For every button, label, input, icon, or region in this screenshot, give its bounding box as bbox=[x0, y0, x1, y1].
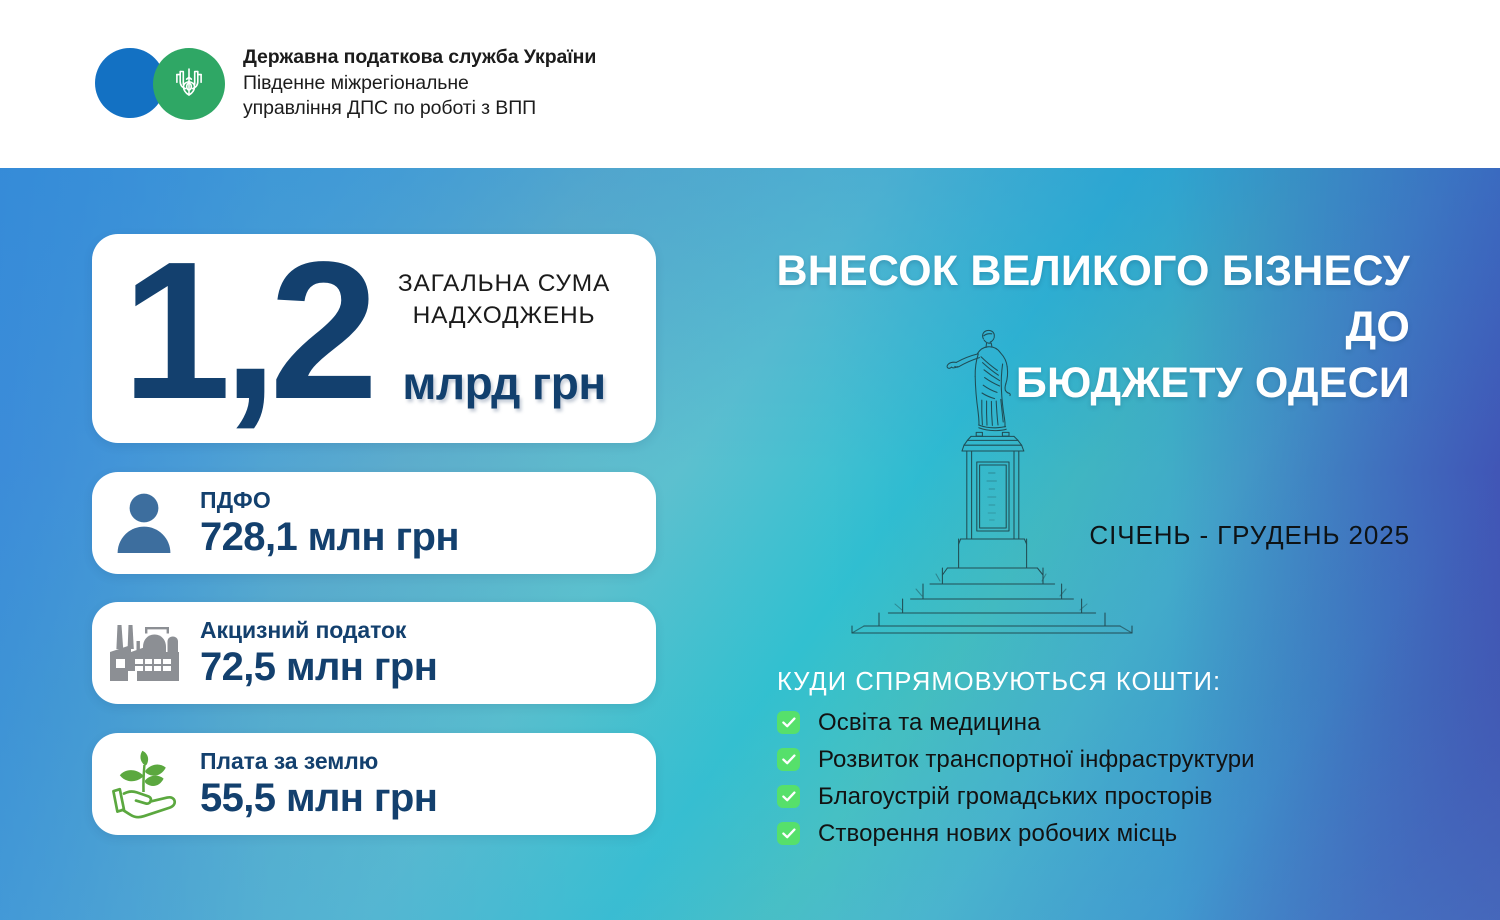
total-revenue-label-line1: ЗАГАЛЬНА СУМА bbox=[374, 268, 634, 300]
spending-section-title: КУДИ СПРЯМОВУЮТЬСЯ КОШТИ: bbox=[777, 666, 1221, 698]
total-revenue-unit: млрд грн bbox=[374, 356, 634, 410]
ukraine-trident-icon bbox=[174, 64, 204, 104]
breakdown-title-land: Плата за землю bbox=[200, 748, 437, 774]
breakdown-title-pdfo: ПДФО bbox=[200, 487, 459, 513]
page-header: Державна податкова служба України Півден… bbox=[0, 0, 1500, 168]
page-title-line2: БЮДЖЕТУ ОДЕСИ bbox=[700, 355, 1410, 411]
list-item: Створення нових робочих місць bbox=[777, 817, 1255, 850]
total-revenue-card: 1,2 ЗАГАЛЬНА СУМА НАДХОДЖЕНЬ млрд грн bbox=[92, 234, 656, 443]
total-revenue-label-line2: НАДХОДЖЕНЬ bbox=[374, 300, 634, 332]
agency-name-line1: Державна податкова служба України bbox=[243, 45, 596, 71]
page-title: ВНЕСОК ВЕЛИКОГО БІЗНЕСУ ДО БЮДЖЕТУ ОДЕСИ bbox=[700, 243, 1410, 411]
page-title-line1: ВНЕСОК ВЕЛИКОГО БІЗНЕСУ ДО bbox=[700, 243, 1410, 355]
list-item-label: Благоустрій громадських просторів bbox=[818, 782, 1212, 812]
agency-name-line3: управління ДПС по роботі з ВПП bbox=[243, 96, 596, 122]
breakdown-value-land: 55,5 млн грн bbox=[200, 775, 437, 821]
hand-plant-icon bbox=[92, 733, 196, 835]
list-item: Благоустрій громадських просторів bbox=[777, 780, 1255, 813]
agency-name: Державна податкова служба України Півден… bbox=[243, 45, 596, 122]
breakdown-value-excise: 72,5 млн грн bbox=[200, 644, 437, 690]
agency-logo bbox=[95, 48, 235, 120]
check-icon bbox=[777, 711, 800, 734]
agency-name-line2: Південне міжрегіональне bbox=[243, 71, 596, 97]
infographic-panel: 1,2 ЗАГАЛЬНА СУМА НАДХОДЖЕНЬ млрд грн ПД… bbox=[0, 168, 1500, 920]
check-icon bbox=[777, 822, 800, 845]
breakdown-value-pdfo: 728,1 млн грн bbox=[200, 514, 459, 560]
breakdown-card-pdfo: ПДФО 728,1 млн грн bbox=[92, 472, 656, 574]
total-revenue-number: 1,2 bbox=[122, 226, 370, 435]
total-revenue-label: ЗАГАЛЬНА СУМА НАДХОДЖЕНЬ bbox=[374, 268, 634, 332]
check-icon bbox=[777, 748, 800, 771]
breakdown-card-land: Плата за землю 55,5 млн грн bbox=[92, 733, 656, 835]
factory-icon bbox=[92, 602, 196, 704]
logo-green-circle-icon bbox=[153, 48, 225, 120]
list-item-label: Розвиток транспортної інфраструктури bbox=[818, 745, 1255, 775]
spending-list: Освіта та медицина Розвиток транспортної… bbox=[777, 706, 1255, 854]
check-icon bbox=[777, 785, 800, 808]
list-item-label: Створення нових робочих місць bbox=[818, 819, 1177, 849]
list-item-label: Освіта та медицина bbox=[818, 708, 1041, 738]
list-item: Освіта та медицина bbox=[777, 706, 1255, 739]
breakdown-card-excise: Акцизний податок 72,5 млн грн bbox=[92, 602, 656, 704]
person-icon bbox=[92, 472, 196, 574]
breakdown-title-excise: Акцизний податок bbox=[200, 617, 437, 643]
reporting-period: СІЧЕНЬ - ГРУДЕНЬ 2025 bbox=[700, 518, 1410, 552]
list-item: Розвиток транспортної інфраструктури bbox=[777, 743, 1255, 776]
